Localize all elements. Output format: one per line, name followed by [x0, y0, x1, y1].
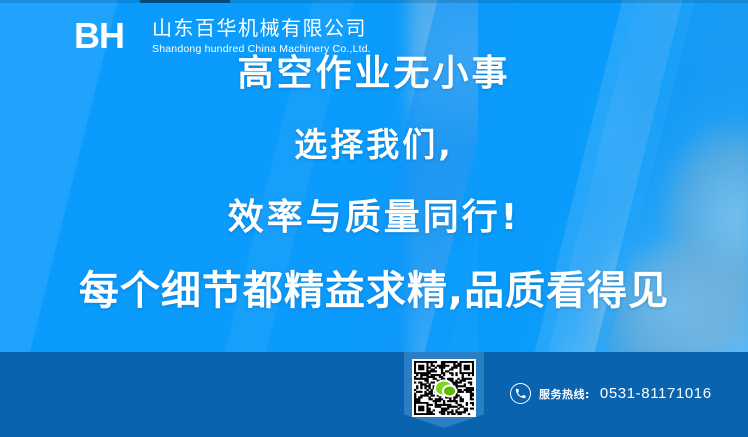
qr-code[interactable] — [412, 359, 476, 417]
slogan-line-4: 每个细节都精益求精,品质看得见 — [79, 258, 669, 316]
promotional-banner: 高空作业无小事 选择我们, 效率与质量同行! 每个细节都精益求精,品质看得见 B… — [0, 0, 748, 437]
hotline-group: 服务热线: 0531-81171016 — [510, 383, 712, 404]
bh-logo-mark: BH — [74, 18, 136, 54]
company-name-cn: 山东百华机械有限公司 — [152, 17, 371, 40]
phone-icon — [510, 383, 531, 404]
hotline-label: 服务热线: — [539, 386, 590, 402]
wechat-icon — [434, 380, 454, 397]
company-name-group: 山东百华机械有限公司 Shandong hundred China Machin… — [138, 17, 371, 55]
slogan-line-2: 选择我们, — [294, 118, 454, 166]
company-logo-group: BH 山东百华机械有限公司 Shandong hundred China Mac… — [74, 16, 371, 56]
slogan-line-3: 效率与质量同行! — [228, 188, 520, 240]
hotline-number: 0531-81171016 — [600, 385, 712, 402]
company-name-en: Shandong hundred China Machinery Co.,Ltd… — [152, 43, 371, 55]
